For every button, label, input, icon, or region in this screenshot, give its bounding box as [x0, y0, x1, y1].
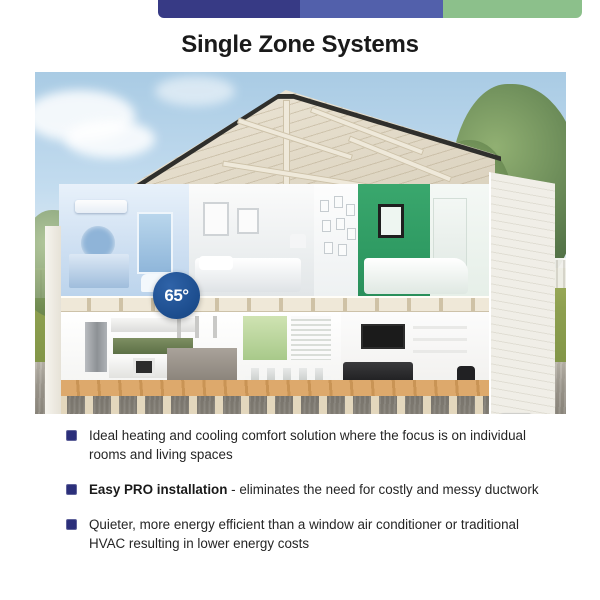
left-exterior-wall: [45, 226, 61, 414]
floor-joist-band: [59, 296, 489, 312]
refrigerator-shape: [85, 322, 107, 372]
gallery-frame: [347, 228, 356, 240]
feature-bullet-list: Ideal heating and cooling comfort soluti…: [66, 426, 546, 569]
wall-shelf: [413, 326, 467, 329]
bullet-square-icon: [66, 484, 77, 495]
gallery-frame: [334, 196, 343, 208]
bullet-square-icon: [66, 430, 77, 441]
list-item: Easy PRO installation - eliminates the n…: [66, 480, 546, 499]
gallery-frame: [346, 204, 355, 216]
pillow-shape: [199, 256, 233, 270]
pendant-light: [177, 316, 181, 338]
wall-shelf: [413, 338, 467, 341]
page-title: Single Zone Systems: [0, 31, 600, 59]
top-bar-segment-medium-blue: [300, 0, 443, 18]
product-info-card: Single Zone Systems: [0, 0, 600, 600]
wall-art-frame: [378, 204, 404, 238]
outdoor-condenser-unit: [501, 413, 531, 414]
upper-floor-rooms: [59, 184, 489, 296]
room-bedroom-gray: [189, 184, 314, 296]
bullet-square-icon: [66, 519, 77, 530]
house-structure: [45, 76, 515, 406]
bullet-text-2-bold: Easy PRO installation: [89, 482, 227, 497]
bullet-text-1: Ideal heating and cooling comfort soluti…: [89, 426, 546, 464]
indoor-mini-split-unit-icon: [75, 200, 127, 213]
kitchen-island: [167, 348, 237, 380]
gallery-frame: [338, 244, 347, 256]
wood-floor-deck: [59, 380, 489, 396]
wall-shelf: [413, 350, 467, 353]
room-bedroom-green: [358, 184, 489, 296]
foundation-piers: [59, 396, 489, 414]
window-shape: [243, 316, 287, 360]
top-bar-segment-dark-blue: [158, 0, 300, 18]
upper-cabinets: [111, 318, 197, 332]
bullet-text-3: Quieter, more energy efficient than a wi…: [89, 515, 546, 553]
pendant-light: [213, 316, 217, 338]
room-hallway-gallery: [314, 184, 358, 296]
television-shape: [361, 324, 405, 349]
gallery-frame: [336, 218, 345, 230]
temperature-badge: 65°: [153, 272, 200, 319]
gallery-frame: [324, 242, 333, 254]
wall-art-frame: [237, 208, 259, 234]
wall-art-frame: [203, 202, 229, 236]
vanity-cabinet: [69, 254, 129, 288]
window-blinds: [291, 316, 331, 360]
list-item: Ideal heating and cooling comfort soluti…: [66, 426, 546, 464]
gallery-frame: [322, 220, 331, 232]
top-bar-segment-green: [443, 0, 582, 18]
pendant-light: [195, 316, 199, 338]
house-cutaway-illustration: 65°: [35, 72, 566, 414]
bullet-text-2: Easy PRO installation - eliminates the n…: [89, 480, 539, 499]
lamp-shape: [290, 234, 306, 248]
list-item: Quieter, more energy efficient than a wi…: [66, 515, 546, 553]
gallery-frame: [320, 200, 329, 212]
exterior-siding-wall: [489, 172, 555, 414]
top-color-bar: [158, 0, 582, 18]
bed-shape: [364, 258, 468, 294]
window-shape: [137, 212, 173, 274]
oven-shape: [133, 358, 155, 376]
